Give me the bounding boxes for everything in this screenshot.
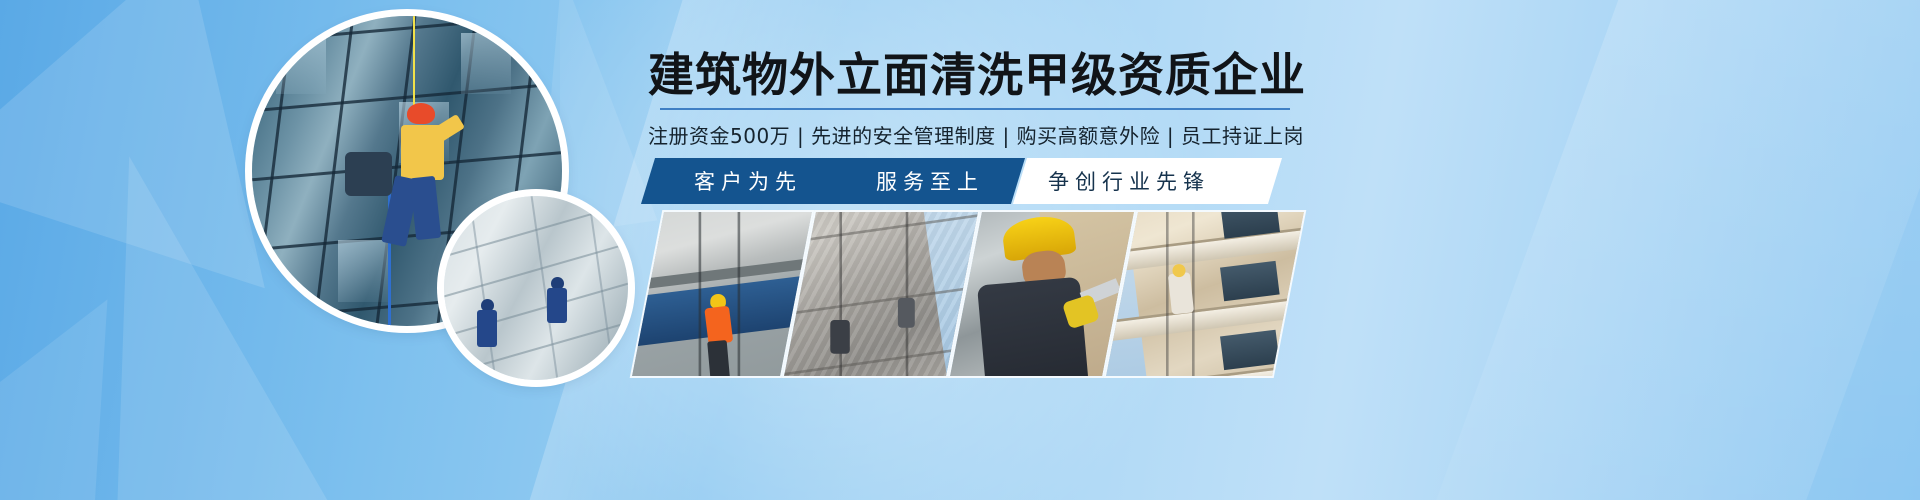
promo-banner: 建筑物外立面清洗甲级资质企业 注册资金500万 | 先进的安全管理制度 | 购买… xyxy=(0,0,1920,500)
light-facade-art xyxy=(444,196,628,380)
page-title: 建筑物外立面清洗甲级资质企业 xyxy=(648,52,1293,98)
slogan-item-1: 客户为先 xyxy=(694,158,802,204)
photo-panel-4 xyxy=(1106,212,1304,376)
slogan-item-3: 争创行业先锋 xyxy=(1048,158,1210,204)
slogan-item-2: 服务至上 xyxy=(876,158,984,204)
photo-strip xyxy=(648,212,1288,376)
background-triangle-3 xyxy=(0,229,240,500)
photo-panel-3 xyxy=(950,212,1134,376)
title-underline xyxy=(660,108,1290,110)
slogan-strip: 客户为先 服务至上 争创行业先锋 xyxy=(648,158,1288,204)
circle-photo-small xyxy=(444,196,628,380)
banner-subtitle: 注册资金500万 | 先进的安全管理制度 | 购买高额意外险 | 员工持证上岗 xyxy=(648,120,1293,149)
photo-panel-1 xyxy=(632,212,812,376)
banner-text-column: 建筑物外立面清洗甲级资质企业 注册资金500万 | 先进的安全管理制度 | 购买… xyxy=(648,0,1920,500)
photo-panel-2 xyxy=(784,212,978,376)
